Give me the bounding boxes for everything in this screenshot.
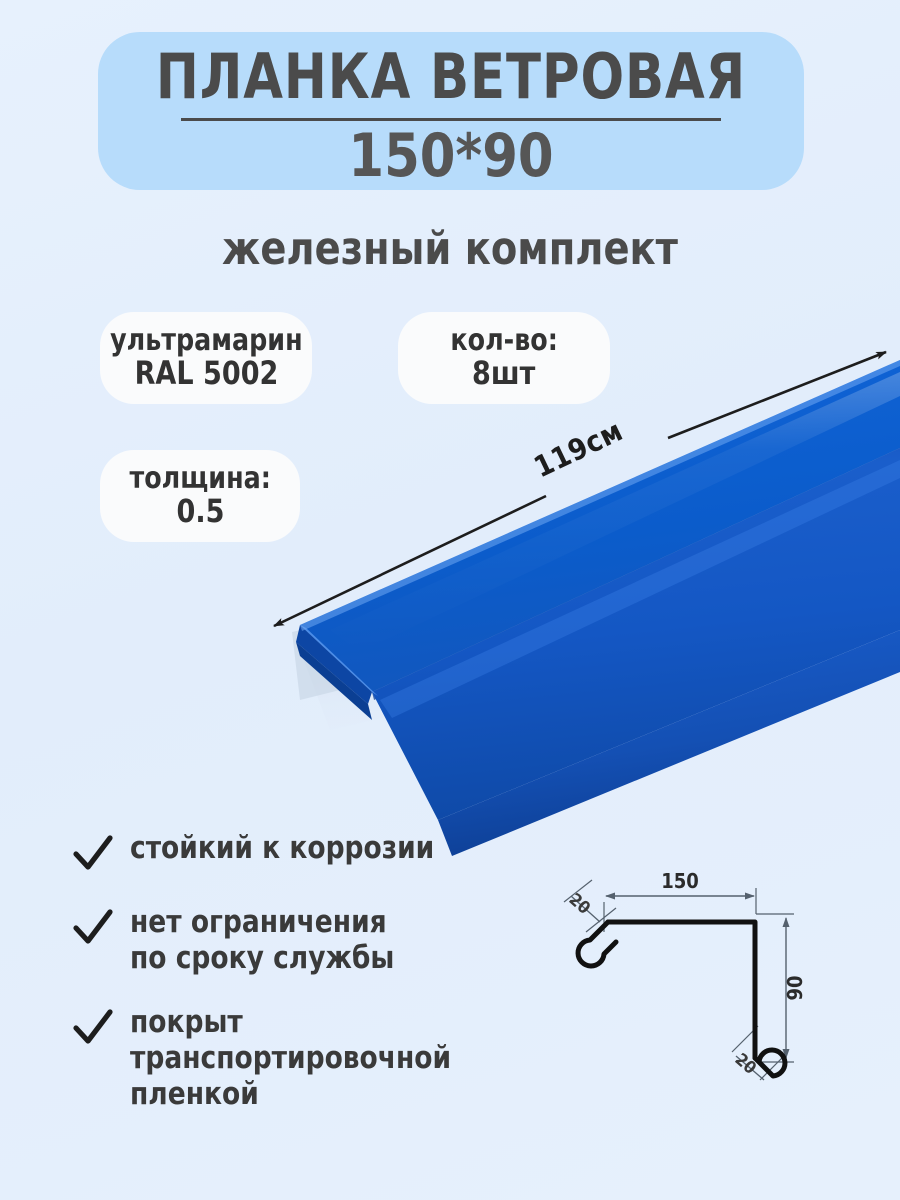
- profile-main: [608, 922, 755, 1058]
- dim-height-label: 90: [783, 975, 807, 1000]
- hem-ext-bot-a: [732, 1026, 758, 1052]
- badge-color: ультрамарин RAL 5002: [100, 312, 312, 404]
- feature-text: покрыт транспортировочной пленкой: [130, 1004, 569, 1112]
- feature-item: нет ограничения по сроку службы: [72, 904, 592, 976]
- badge-quantity: кол-во: 8шт: [398, 312, 610, 404]
- check-icon: [72, 834, 114, 874]
- badge-quantity-line1: кол-во:: [450, 326, 557, 357]
- product-top-edge: [300, 360, 900, 631]
- badge-color-line2: RAL 5002: [134, 357, 278, 390]
- hem-ext-bot-b: [760, 1054, 786, 1080]
- product-size: 150*90: [116, 123, 787, 189]
- product-card: ПЛАНКА ВЕТРОВАЯ 150*90 железный комплект…: [0, 0, 900, 1200]
- dim-hem-bottom-label: 20: [731, 1050, 760, 1079]
- length-arrow-right: [668, 352, 886, 438]
- feature-text: нет ограничения по сроку службы: [130, 904, 394, 976]
- check-icon: [72, 1008, 114, 1048]
- badge-thickness-line1: толщина:: [129, 464, 270, 495]
- product-front-face: [372, 448, 900, 820]
- product-end-cap-inner: [296, 642, 372, 720]
- product-crease: [372, 448, 900, 700]
- dim-width-label: 150: [661, 869, 699, 893]
- product-shadow: [300, 525, 900, 730]
- title-banner: ПЛАНКА ВЕТРОВАЯ 150*90: [98, 32, 804, 190]
- badge-thickness-line2: 0.5: [176, 495, 224, 528]
- feature-item: покрыт транспортировочной пленкой: [72, 1004, 592, 1112]
- badge-color-line1: ультрамарин: [110, 326, 302, 357]
- product-end-cap: [296, 625, 372, 704]
- product-bottom-lip: [438, 630, 900, 856]
- feature-item: стойкий к коррозии: [72, 830, 592, 874]
- length-arrow-left: [274, 496, 546, 626]
- check-icon: [72, 908, 114, 948]
- badge-thickness: толщина: 0.5: [100, 450, 300, 542]
- product-top-highlight: [330, 372, 900, 652]
- product-top-face: [300, 360, 900, 692]
- badge-quantity-line2: 8шт: [472, 357, 535, 390]
- feature-list: стойкий к коррозии нет ограничения по ср…: [72, 830, 592, 1138]
- product-shadow-core: [292, 496, 900, 700]
- dim-line-hem-bottom: [736, 1056, 764, 1080]
- feature-text: стойкий к коррозии: [130, 830, 434, 866]
- profile-hem-right: [755, 1050, 785, 1076]
- page-title: ПЛАНКА ВЕТРОВАЯ: [126, 38, 776, 116]
- product-edge-highlight: [300, 625, 378, 696]
- technical-drawing: 150 90 20 20: [546, 866, 876, 1096]
- length-label: 119см: [529, 413, 628, 484]
- product-subtitle: железный комплект: [23, 222, 878, 275]
- product-front-highlight: [380, 460, 900, 718]
